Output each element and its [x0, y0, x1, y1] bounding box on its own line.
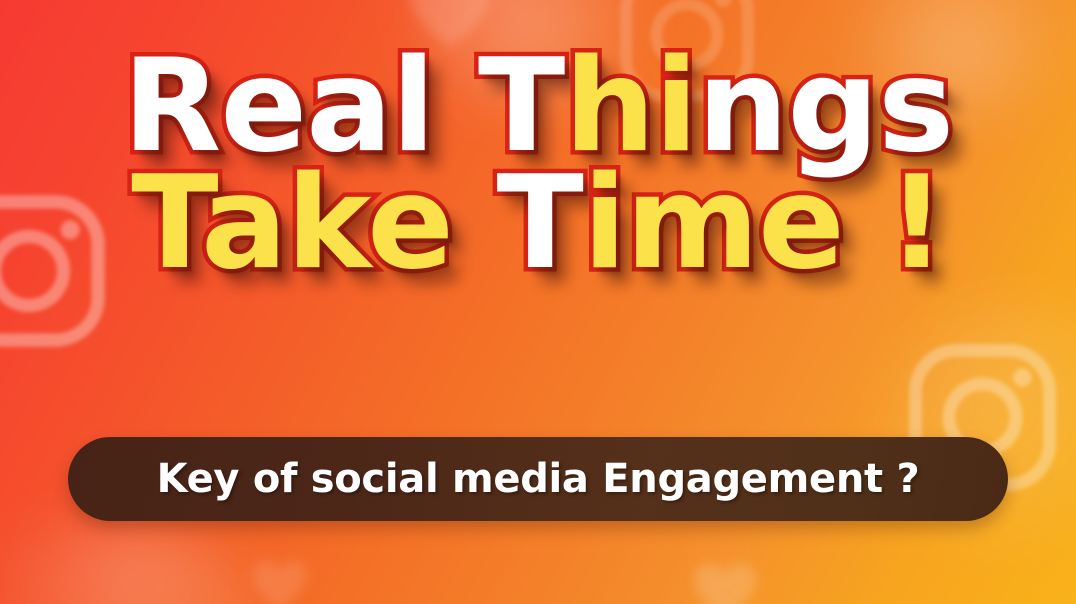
- poster-canvas: Real Things Take Time ! Key of social me…: [0, 0, 1076, 604]
- subtitle-banner: Key of social media Engagement ?: [68, 437, 1008, 521]
- subtitle-banner-text: Key of social media Engagement ?: [157, 456, 920, 502]
- light-blob-bottom-right: [880, 300, 1076, 560]
- headline-line-2-segment-1: Take: [131, 149, 496, 298]
- headline-line-2-segment-3: ime !: [583, 149, 945, 298]
- headline: Real Things Take Time !: [0, 46, 1076, 286]
- heart-icon: [690, 560, 760, 604]
- light-blob-bottom-left: [0, 520, 260, 604]
- headline-line-2-segment-2: T: [496, 149, 582, 298]
- headline-line-2: Take Time !: [0, 163, 1076, 286]
- heart-icon: [250, 558, 310, 604]
